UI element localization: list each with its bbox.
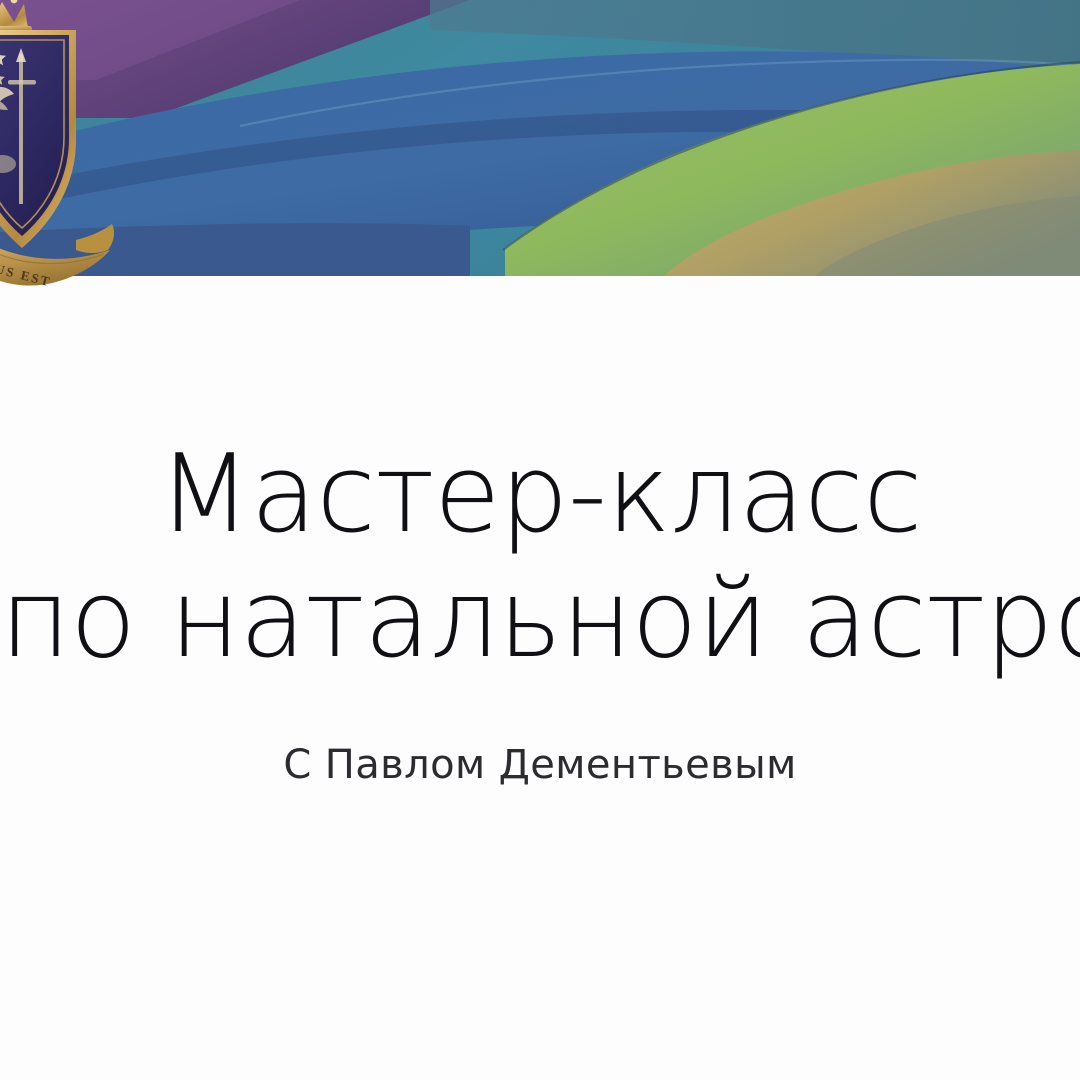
title-line-1: Мастер-класс [0, 432, 1080, 557]
page-title: Мастер-класс по натальной астрологии [0, 432, 1080, 683]
presenter-subtitle: С Павлом Дементьевым [0, 742, 1080, 788]
shield-field [0, 35, 69, 236]
title-line-2: по натальной астрологии [0, 557, 1080, 682]
heraldic-shield-emblem: IDUS EST [0, 0, 126, 308]
decorative-wave-banner [0, 0, 1080, 276]
empty-content-area [0, 810, 1080, 1080]
slide-canvas: IDUS EST Мастер-класс по натальной астро… [0, 0, 1080, 1080]
crown-icon [0, 0, 32, 34]
